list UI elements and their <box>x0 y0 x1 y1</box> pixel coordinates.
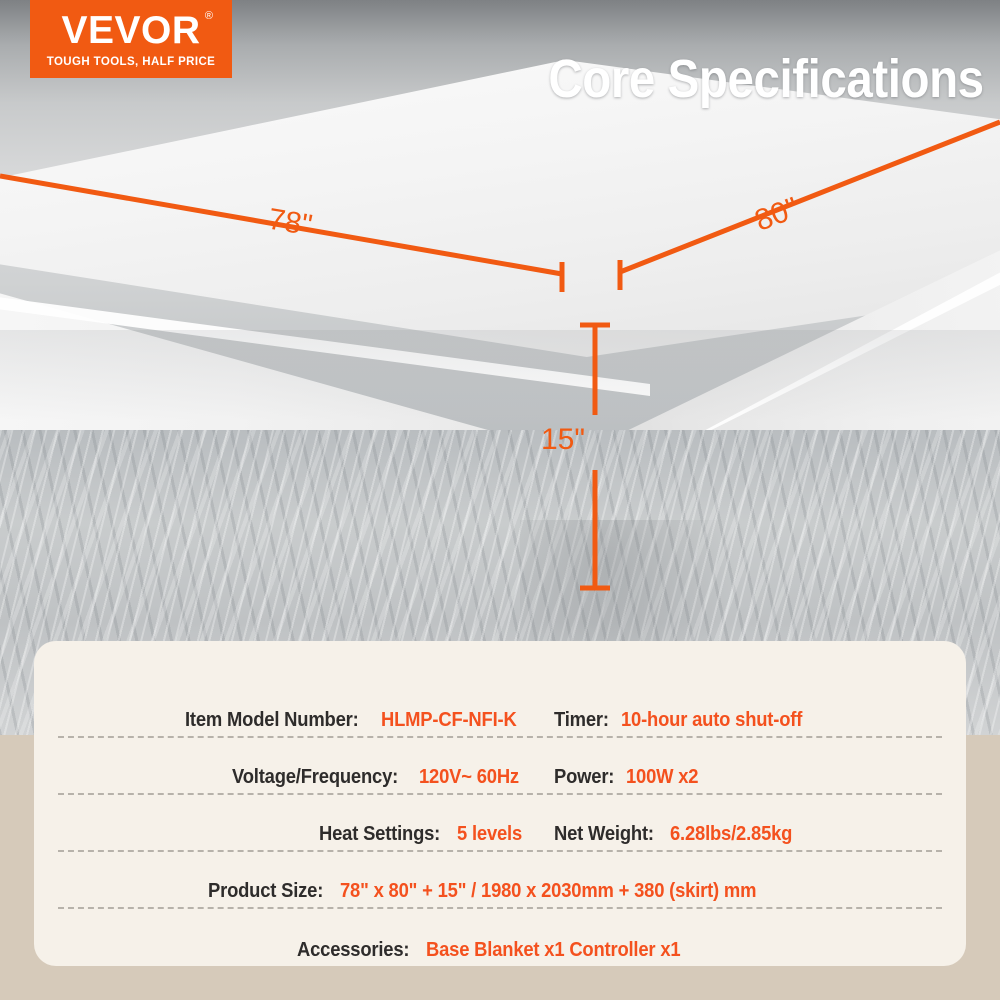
spec-value: Base Blanket x1 Controller x1 <box>426 939 680 962</box>
table-row: Product Size: 78" x 80" + 15" / 1980 x 2… <box>58 852 942 909</box>
registered-trademark-icon: ® <box>205 11 214 22</box>
spec-value: 78" x 80" + 15" / 1980 x 2030mm + 380 (s… <box>340 880 756 903</box>
dimension-label-width: 78" <box>265 203 314 244</box>
table-row: Accessories: Base Blanket x1 Controller … <box>58 909 942 966</box>
table-row: Voltage/Frequency: 120V~ 60Hz Power: 100… <box>58 738 942 795</box>
spec-item: Timer: 10-hour auto shut-off <box>528 709 942 732</box>
spec-label: Accessories: <box>297 939 409 962</box>
dimension-overlay: 78" 80" 15" <box>0 0 1000 740</box>
spec-label: Net Weight: <box>554 823 654 846</box>
spec-label: Power: <box>554 766 614 789</box>
spec-value: HLMP-CF-NFI-K <box>381 709 517 732</box>
dimension-label-depth: 15" <box>541 423 585 457</box>
vevor-logo: VEVOR ® TOUGH TOOLS, HALF PRICE <box>30 0 232 78</box>
spec-value: 5 levels <box>457 823 522 846</box>
spec-item: Net Weight: 6.28lbs/2.85kg <box>528 823 942 846</box>
brand-name: VEVOR ® <box>61 11 200 50</box>
spec-value: 100W x2 <box>626 766 698 789</box>
spec-card: Item Model Number: HLMP-CF-NFI-K Timer: … <box>34 641 966 966</box>
spec-value: 6.28lbs/2.85kg <box>670 823 792 846</box>
spec-item: Product Size: 78" x 80" + 15" / 1980 x 2… <box>58 880 942 903</box>
spec-item: Voltage/Frequency: 120V~ 60Hz <box>58 766 528 789</box>
brand-name-text: VEVOR <box>61 9 200 52</box>
spec-label: Timer: <box>554 709 609 732</box>
dimension-line-length <box>620 122 1000 272</box>
spec-item: Power: 100W x2 <box>528 766 942 789</box>
page-title: Core Specifications <box>549 52 984 106</box>
dimension-lines-svg <box>0 0 1000 740</box>
spec-value: 10-hour auto shut-off <box>621 709 802 732</box>
table-row: Heat Settings: 5 levels Net Weight: 6.28… <box>58 795 942 852</box>
table-row: Item Model Number: HLMP-CF-NFI-K Timer: … <box>58 681 942 738</box>
spec-table: Item Model Number: HLMP-CF-NFI-K Timer: … <box>34 681 966 966</box>
spec-label: Heat Settings: <box>319 823 440 846</box>
spec-label: Voltage/Frequency: <box>232 766 398 789</box>
spec-label: Item Model Number: <box>185 709 359 732</box>
spec-value: 120V~ 60Hz <box>419 766 519 789</box>
spec-item: Item Model Number: HLMP-CF-NFI-K <box>58 709 528 732</box>
spec-item: Accessories: Base Blanket x1 Controller … <box>58 939 942 962</box>
spec-item: Heat Settings: 5 levels <box>58 823 528 846</box>
brand-tagline: TOUGH TOOLS, HALF PRICE <box>47 56 216 68</box>
spec-label: Product Size: <box>208 880 323 903</box>
